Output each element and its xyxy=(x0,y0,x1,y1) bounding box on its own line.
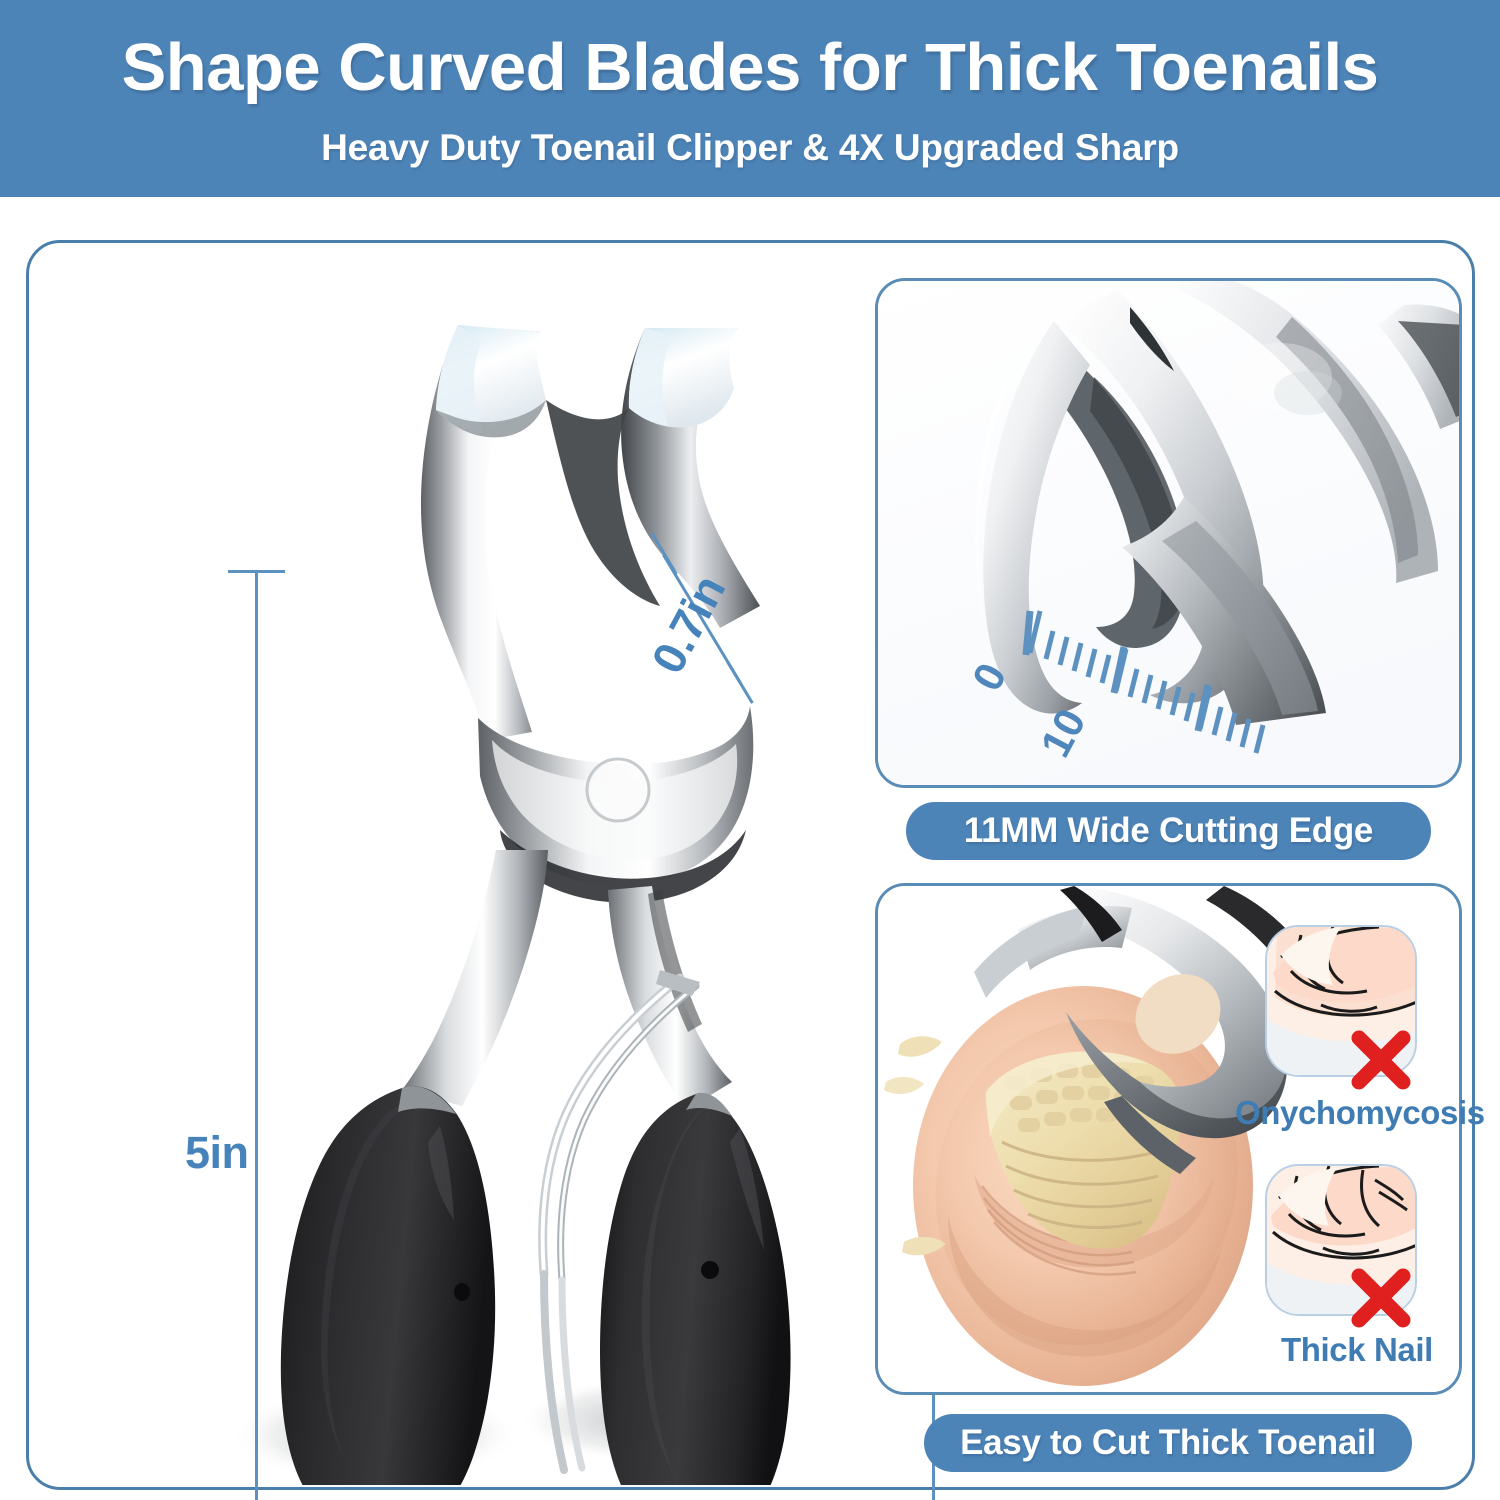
inset-label-onychomycosis: Onychomycosis xyxy=(1235,1094,1485,1132)
badge-cutting-edge: 11MM Wide Cutting Edge xyxy=(906,802,1431,860)
dimension-line-length xyxy=(255,572,258,1500)
inset-label-thick-nail: Thick Nail xyxy=(1281,1331,1433,1369)
page-subtitle: Heavy Duty Toenail Clipper & 4X Upgraded… xyxy=(321,127,1179,169)
badge-easy-to-cut: Easy to Cut Thick Toenail xyxy=(924,1414,1412,1472)
product-image-area: 5in 2.6in 0.7in xyxy=(140,270,820,1480)
blade-closeup-panel: 0 10 xyxy=(875,278,1462,788)
red-x-icon-onychomycosis xyxy=(1348,1027,1414,1093)
red-x-icon-thick-nail xyxy=(1348,1265,1414,1331)
toenail-clipper-illustration xyxy=(140,270,840,1485)
infographic-page: Shape Curved Blades for Thick Toenails H… xyxy=(0,0,1500,1500)
ruler-tick-label-0: 0 xyxy=(963,655,1016,698)
ruler-scale: 0 10 xyxy=(878,281,1462,788)
page-title: Shape Curved Blades for Thick Toenails xyxy=(122,34,1379,101)
dimension-cap-bottom xyxy=(726,661,753,704)
ruler-tick-label-10: 10 xyxy=(1031,701,1095,765)
header-banner: Shape Curved Blades for Thick Toenails H… xyxy=(0,0,1500,197)
dimension-label-length: 5in xyxy=(185,1127,249,1179)
dimension-cap-top xyxy=(228,570,285,573)
